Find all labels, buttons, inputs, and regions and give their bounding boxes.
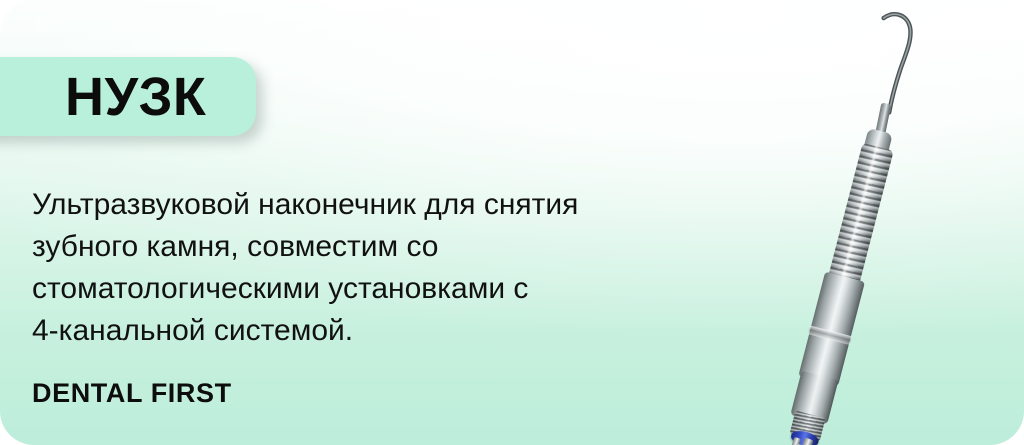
product-code-badge: НУЗК: [0, 57, 256, 136]
description-line: Ультразвуковой наконечник для снятия: [32, 184, 662, 226]
product-description: Ультразвуковой наконечник для снятия зуб…: [32, 184, 662, 352]
scaler-ribbed-grip: [828, 143, 894, 287]
brand-name: DENTAL FIRST: [32, 378, 232, 409]
description-line: 4-канальной системой.: [32, 310, 662, 352]
ultrasonic-scaler-handpiece: [764, 0, 951, 445]
promo-card: НУЗК Ультразвуковой наконечник для сняти…: [0, 0, 1024, 445]
description-line: зубного камня, совместим со: [32, 226, 662, 268]
product-code-label: НУЗК: [65, 70, 206, 124]
scaler-tip-icon: [852, 3, 944, 135]
product-image: [640, 0, 1024, 445]
description-line: стоматологическими установками с: [32, 268, 662, 310]
